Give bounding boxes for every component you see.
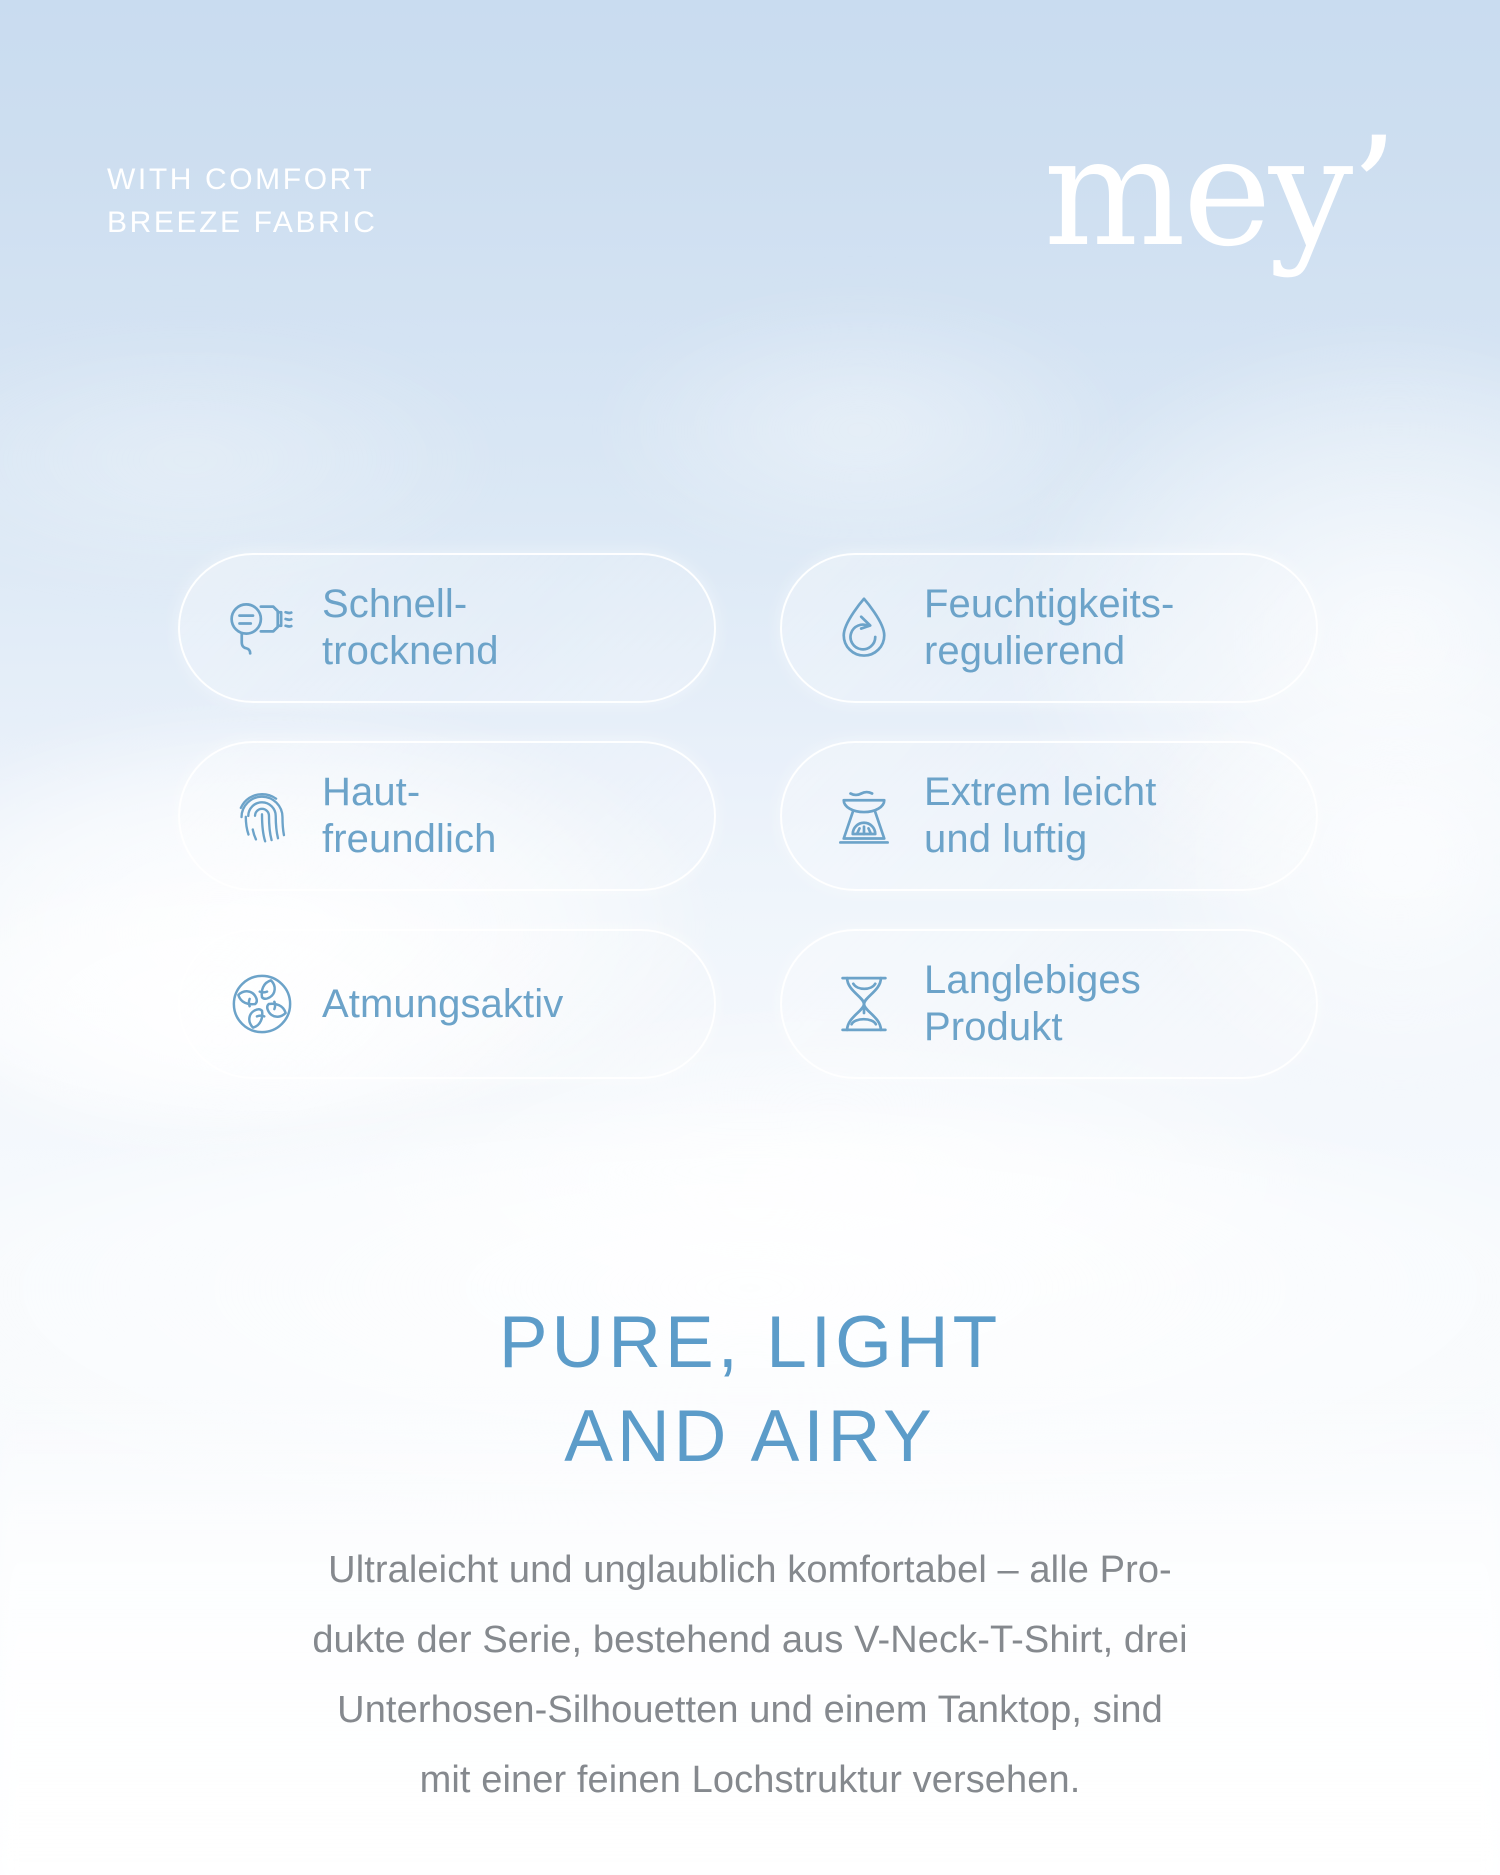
promo-banner: WITH COMFORT BREEZE FABRIC mey’ Schnell-… xyxy=(0,0,1500,1875)
water-drop-recycle-icon xyxy=(822,586,906,670)
fingerprint-icon xyxy=(220,774,304,858)
hourglass-icon xyxy=(822,962,906,1046)
feature-label: Haut- freundlich xyxy=(322,769,496,863)
body-copy: Ultraleicht und unglaublich komfortabel … xyxy=(0,1535,1500,1815)
feature-label: Atmungsaktiv xyxy=(322,981,563,1028)
eyebrow-text: WITH COMFORT BREEZE FABRIC xyxy=(107,158,378,244)
feature-pill-feuchtigkeitsregulierend[interactable]: Feuchtigkeits- regulierend xyxy=(780,553,1318,703)
fan-icon xyxy=(220,962,304,1046)
brand-logo: mey’ xyxy=(1044,118,1395,268)
feature-pill-hautfreundlich[interactable]: Haut- freundlich xyxy=(178,741,716,891)
feature-label: Schnell- trocknend xyxy=(322,581,499,675)
feature-label: Extrem leicht und luftig xyxy=(924,769,1156,863)
cloud-decoration xyxy=(0,330,500,590)
feature-pill-schnelltrocknend[interactable]: Schnell- trocknend xyxy=(178,553,716,703)
feature-pill-langlebiges-produkt[interactable]: Langlebiges Produkt xyxy=(780,929,1318,1079)
cloud-decoration xyxy=(600,300,1120,560)
kitchen-scale-icon xyxy=(822,774,906,858)
feature-label: Langlebiges Produkt xyxy=(924,957,1141,1051)
feature-pill-atmungsaktiv[interactable]: Atmungsaktiv xyxy=(178,929,716,1079)
page-title: PURE, LIGHT AND AIRY xyxy=(0,1296,1500,1484)
feature-pill-grid: Schnell- trocknend Feuchtigkeits- reguli… xyxy=(178,553,1318,1079)
feature-pill-extrem-leicht[interactable]: Extrem leicht und luftig xyxy=(780,741,1318,891)
feature-label: Feuchtigkeits- regulierend xyxy=(924,581,1174,675)
hairdryer-icon xyxy=(220,586,304,670)
